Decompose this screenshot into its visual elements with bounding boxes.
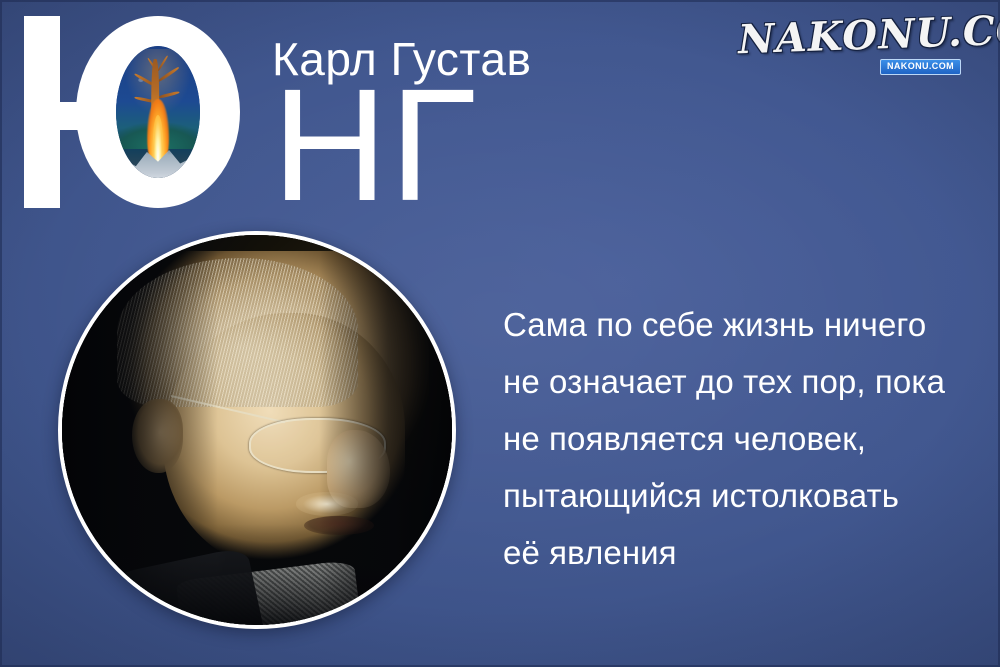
tree-flame-inner bbox=[153, 115, 163, 165]
quote-line: пытающийся истолковать bbox=[503, 467, 979, 524]
quote-line: её явления bbox=[503, 524, 979, 581]
watermark[interactable]: NAKONU.COM NAKONU.COM bbox=[738, 16, 988, 86]
headline-block: Карл Густав НГ bbox=[0, 0, 560, 215]
watermark-script-text: NAKONU.COM bbox=[737, 12, 988, 61]
initial-letter-yu bbox=[18, 2, 240, 208]
quote-line: не появляется человек, bbox=[503, 410, 979, 467]
portrait-shadow-bottom bbox=[62, 524, 452, 625]
watermark-badge[interactable]: NAKONU.COM bbox=[880, 59, 961, 75]
quote-line: не означает до тех пор, пока bbox=[503, 353, 979, 410]
burning-tree-of-life-icon bbox=[116, 46, 200, 178]
quote-line: Сама по себе жизнь ничего bbox=[503, 296, 979, 353]
portrait-photo bbox=[58, 231, 456, 629]
quote-poster: Карл Густав НГ NAKONU.COM NAKONU.COM Сам… bbox=[0, 0, 1000, 667]
surname-letters-ng: НГ bbox=[272, 83, 478, 208]
quote-text: Сама по себе жизнь ничего не означает до… bbox=[503, 296, 979, 581]
